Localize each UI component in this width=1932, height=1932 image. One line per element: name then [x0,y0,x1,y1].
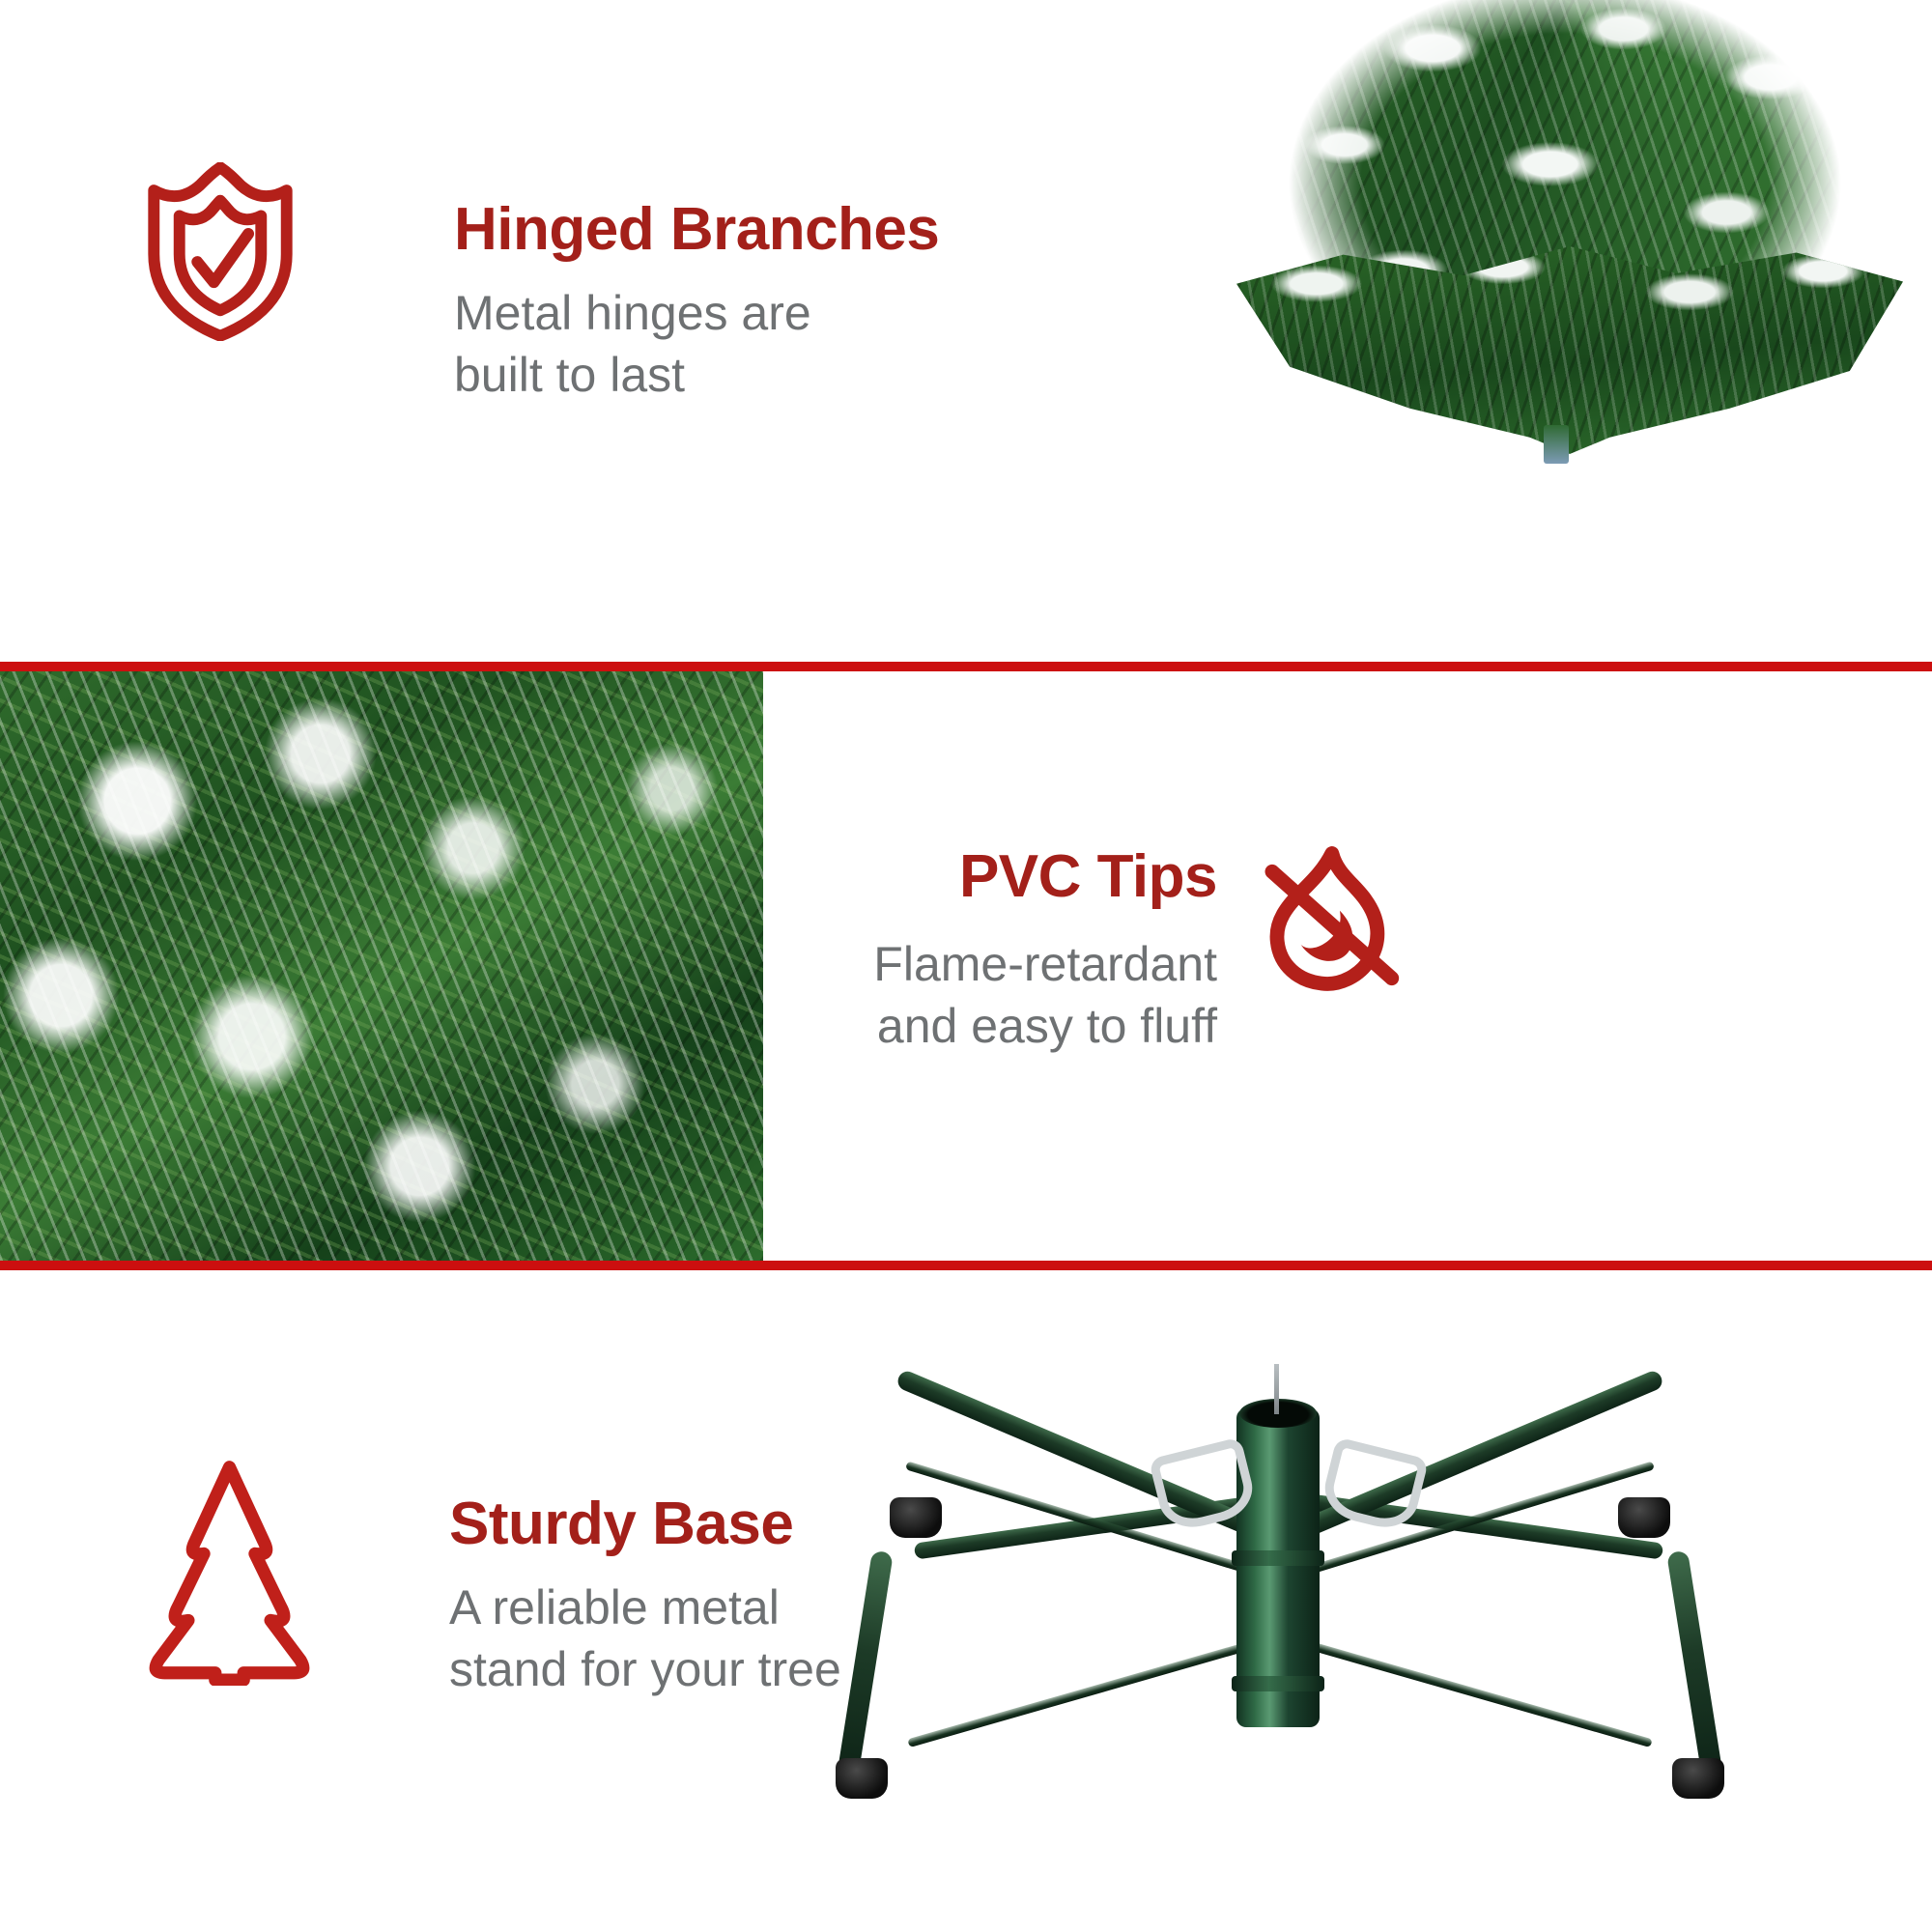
feature-text-hinged-branches: Hinged Branches Metal hinges are built t… [454,198,939,406]
description-line-2: built to last [454,344,939,406]
shield-check-icon [143,162,298,341]
stand-leg-front-right [1666,1550,1722,1774]
panel-description: Flame-retardant and easy to fluff [873,933,1217,1057]
description-line-1: Flame-retardant [873,933,1217,995]
feature-text-pvc-tips: PVC Tips Flame-retardant and easy to flu… [873,845,1217,1057]
panel-pvc-tips: PVC Tips Flame-retardant and easy to flu… [0,671,1932,1261]
no-flame-icon [1246,840,1415,1009]
metal-tree-stand-photo [797,1343,1763,1845]
panel-title: Sturdy Base [449,1492,841,1555]
stand-leg-front-left [838,1550,894,1774]
panel-title: PVC Tips [873,845,1217,908]
stand-brace-front-left [907,1633,1281,1747]
snow-flocked-christmas-tree-photo [1198,0,1932,483]
stand-foot-back-right [1618,1497,1670,1538]
panel-hinged-branches: Hinged Branches Metal hinges are built t… [0,0,1932,662]
stand-foot-back-left [890,1497,942,1538]
flocked-branch-closeup-photo [0,671,763,1261]
description-line-1: A reliable metal [449,1577,841,1638]
section-divider-bottom [0,1261,1932,1270]
panel-title: Hinged Branches [454,198,939,261]
christmas-tree-outline-icon [126,1459,333,1686]
description-line-2: stand for your tree [449,1638,841,1700]
tree-stand-assembly [797,1343,1763,1845]
product-feature-infographic: Hinged Branches Metal hinges are built t… [0,0,1932,1932]
stand-post-collar-lower [1232,1676,1324,1691]
feature-text-sturdy-base: Sturdy Base A reliable metal stand for y… [449,1492,841,1700]
panel-sturdy-base: Sturdy Base A reliable metal stand for y… [0,1270,1932,1932]
stand-brace-front-right [1279,1633,1653,1747]
stand-foot-front-left [836,1758,888,1799]
panel-description: A reliable metal stand for your tree [449,1577,841,1700]
description-line-1: Metal hinges are [454,282,939,344]
panel-description: Metal hinges are built to last [454,282,939,406]
description-line-2: and easy to fluff [873,995,1217,1057]
stand-foot-front-right [1672,1758,1724,1799]
section-divider-top [0,662,1932,671]
stand-post-collar-upper [1232,1550,1324,1566]
tree-trunk-tip [1544,425,1569,464]
stand-center-screw [1274,1364,1279,1414]
